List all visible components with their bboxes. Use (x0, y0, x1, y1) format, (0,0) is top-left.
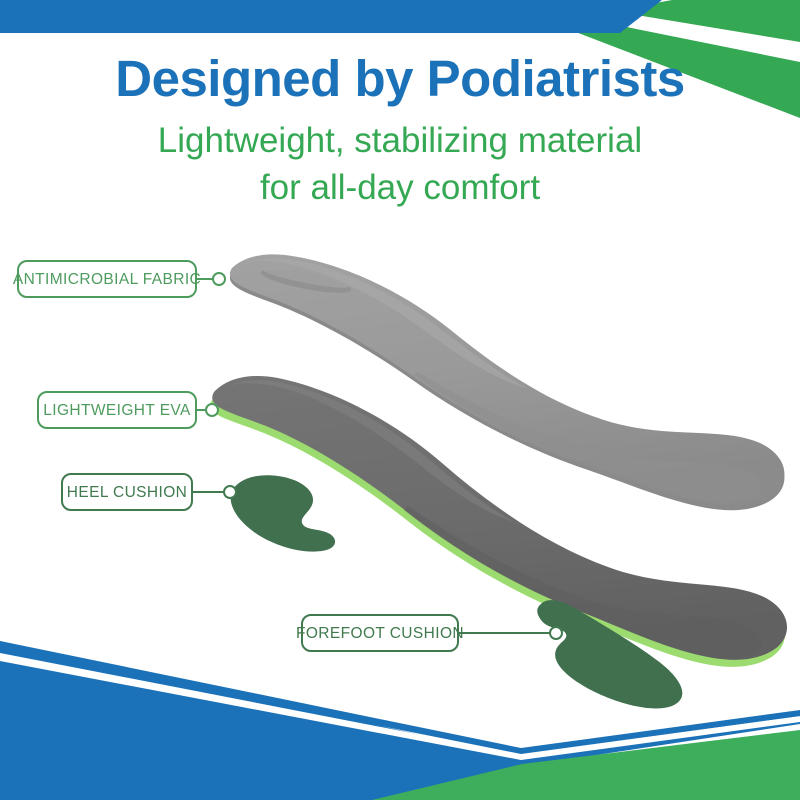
callout-label-heel: HEEL CUSHION (67, 484, 188, 501)
callout-label-antimicrobial: ANTIMICROBIAL FABRIC (13, 271, 201, 288)
callout-antimicrobial-fabric[interactable]: ANTIMICROBIAL FABRIC (13, 261, 225, 297)
heel-cushion-pad (231, 475, 335, 551)
top-blue-band (0, 0, 662, 33)
callout-forefoot-cushion[interactable]: FOREFOOT CUSHION (296, 615, 562, 651)
callout-label-eva: LIGHTWEIGHT EVA (43, 402, 191, 419)
callout-dot-heel (224, 486, 236, 498)
page-title: Designed by Podiatrists (115, 50, 684, 107)
infographic-svg: ANTIMICROBIAL FABRIC LIGHTWEIGHT EVA HEE… (0, 0, 800, 800)
heel-cushion-shape (231, 475, 335, 551)
callout-dot-eva (206, 404, 218, 416)
callout-heel-cushion[interactable]: HEEL CUSHION (62, 474, 236, 510)
callout-lightweight-eva[interactable]: LIGHTWEIGHT EVA (38, 392, 218, 428)
subtitle-line-1: Lightweight, stabilizing material (158, 121, 642, 160)
bottom-decoration (0, 641, 800, 800)
callout-dot-antimicrobial (213, 273, 225, 285)
callout-label-forefoot: FOREFOOT CUSHION (296, 625, 464, 642)
infographic-canvas: ANTIMICROBIAL FABRIC LIGHTWEIGHT EVA HEE… (0, 0, 800, 800)
callout-dot-forefoot (550, 627, 562, 639)
insole-top-layer (230, 254, 784, 510)
subtitle-line-2: for all-day comfort (260, 168, 540, 207)
